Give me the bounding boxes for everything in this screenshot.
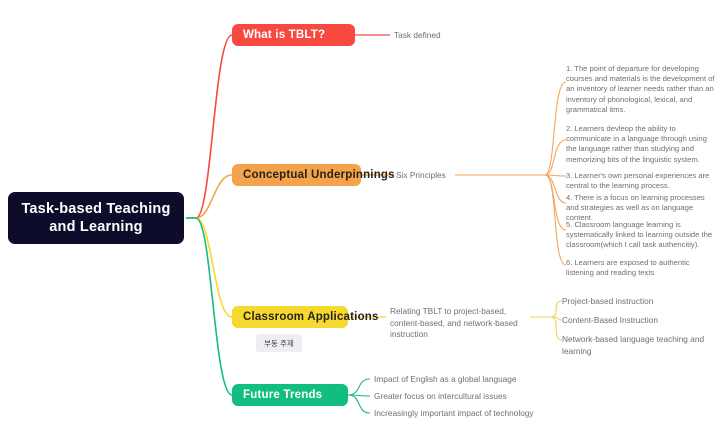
future-trend-item[interactable]: Greater focus on intercultural issues — [374, 391, 507, 403]
future-trend-item[interactable]: Increasingly important impact of technol… — [374, 408, 534, 420]
central-topic-label: Task-based Teaching and Learning — [16, 200, 176, 236]
branch-node-conceptual-underpinnings[interactable]: Conceptual Underpinnings — [232, 164, 361, 186]
principle-item[interactable]: 1. The point of departure for developing… — [566, 64, 718, 115]
leaf-task-defined[interactable]: Task defined — [394, 30, 441, 42]
branch-node-classroom-applications[interactable]: Classroom Applications — [232, 306, 348, 328]
application-type-item[interactable]: Content-Based Instruction — [562, 315, 658, 327]
principle-item[interactable]: 5. Classroom language learning is system… — [566, 220, 718, 251]
principle-item[interactable]: 3. Learner's own personal experiences ar… — [566, 171, 718, 191]
branch-label: Conceptual Underpinnings — [243, 169, 395, 181]
application-type-item[interactable]: Network-based language teaching and lear… — [562, 334, 712, 357]
branch-label: What is TBLT? — [243, 29, 325, 41]
branch-label: Classroom Applications — [243, 311, 379, 323]
leaf-relating-tblt[interactable]: Relating TBLT to project-based, content-… — [390, 306, 530, 341]
principle-item[interactable]: 2. Learners devleop the ability to commu… — [566, 124, 718, 165]
future-trend-item[interactable]: Impact of English as a global language — [374, 374, 517, 386]
branch-label: Future Trends — [243, 389, 322, 401]
floating-topic-node[interactable]: 부동 주제 — [256, 334, 302, 352]
principle-item[interactable]: 6. Learners are exposed to authentic lis… — [566, 258, 718, 278]
central-topic-node[interactable]: Task-based Teaching and Learning — [8, 192, 184, 244]
mindmap-canvas[interactable]: Task-based Teaching and Learning What is… — [0, 0, 725, 448]
branch-node-what-is-tblt[interactable]: What is TBLT? — [232, 24, 355, 46]
floating-topic-label: 부동 주제 — [264, 338, 294, 349]
application-type-item[interactable]: Project-based instruction — [562, 296, 653, 308]
branch-node-future-trends[interactable]: Future Trends — [232, 384, 348, 406]
leaf-six-principles[interactable]: Six Principles — [396, 170, 446, 182]
